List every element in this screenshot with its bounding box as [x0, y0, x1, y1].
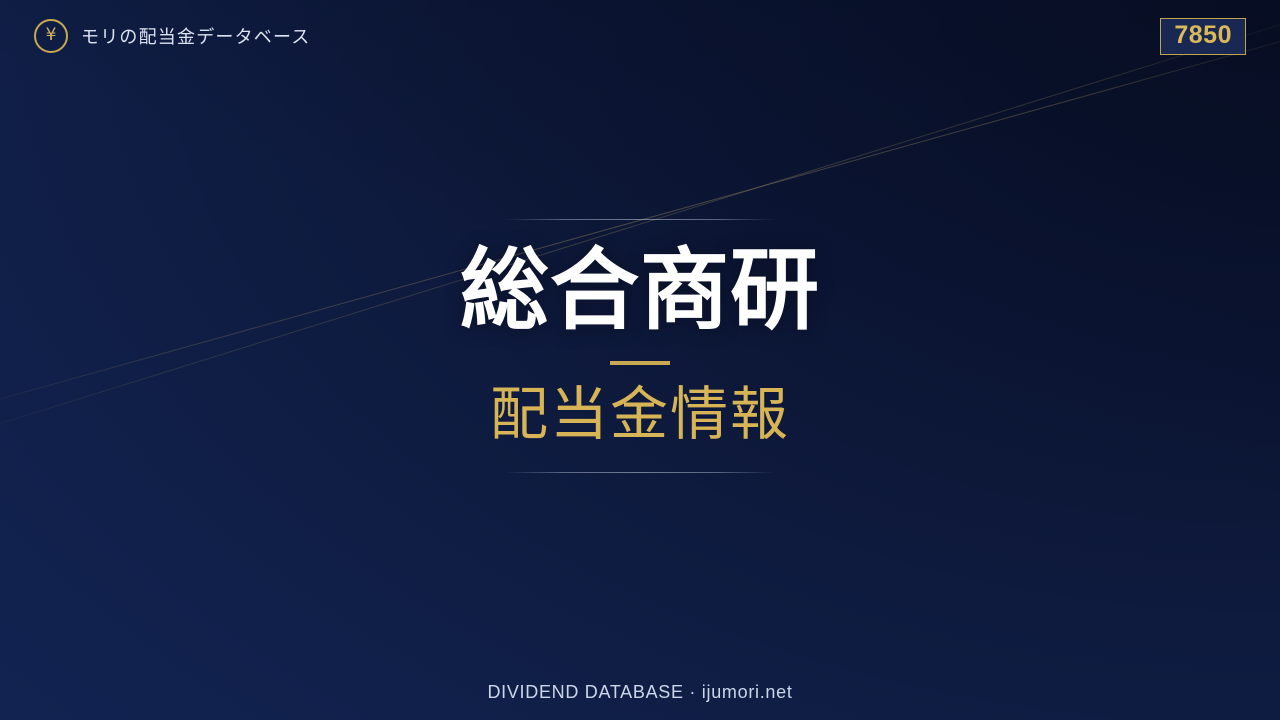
yen-glyph: ¥ — [46, 27, 57, 44]
hero-inner: 総合商研 配当金情報 — [460, 219, 820, 473]
ticker-badge: 7850 — [1160, 18, 1246, 55]
hero-section: 総合商研 配当金情報 — [0, 0, 1280, 720]
page-header: ¥ モリの配当金データベース 7850 — [0, 0, 1280, 72]
footer-text: DIVIDEND DATABASE · ijumori.net — [487, 682, 792, 703]
yen-coin-icon: ¥ — [34, 19, 68, 53]
gold-divider — [610, 361, 670, 365]
brand[interactable]: ¥ モリの配当金データベース — [34, 19, 311, 53]
page-footer: DIVIDEND DATABASE · ijumori.net — [0, 664, 1280, 720]
brand-title: モリの配当金データベース — [81, 23, 311, 49]
page-title: 総合商研 — [460, 246, 820, 335]
hero-rule-top — [504, 219, 776, 220]
hero-rule-bottom — [504, 472, 776, 473]
page-subtitle: 配当金情報 — [490, 385, 790, 446]
